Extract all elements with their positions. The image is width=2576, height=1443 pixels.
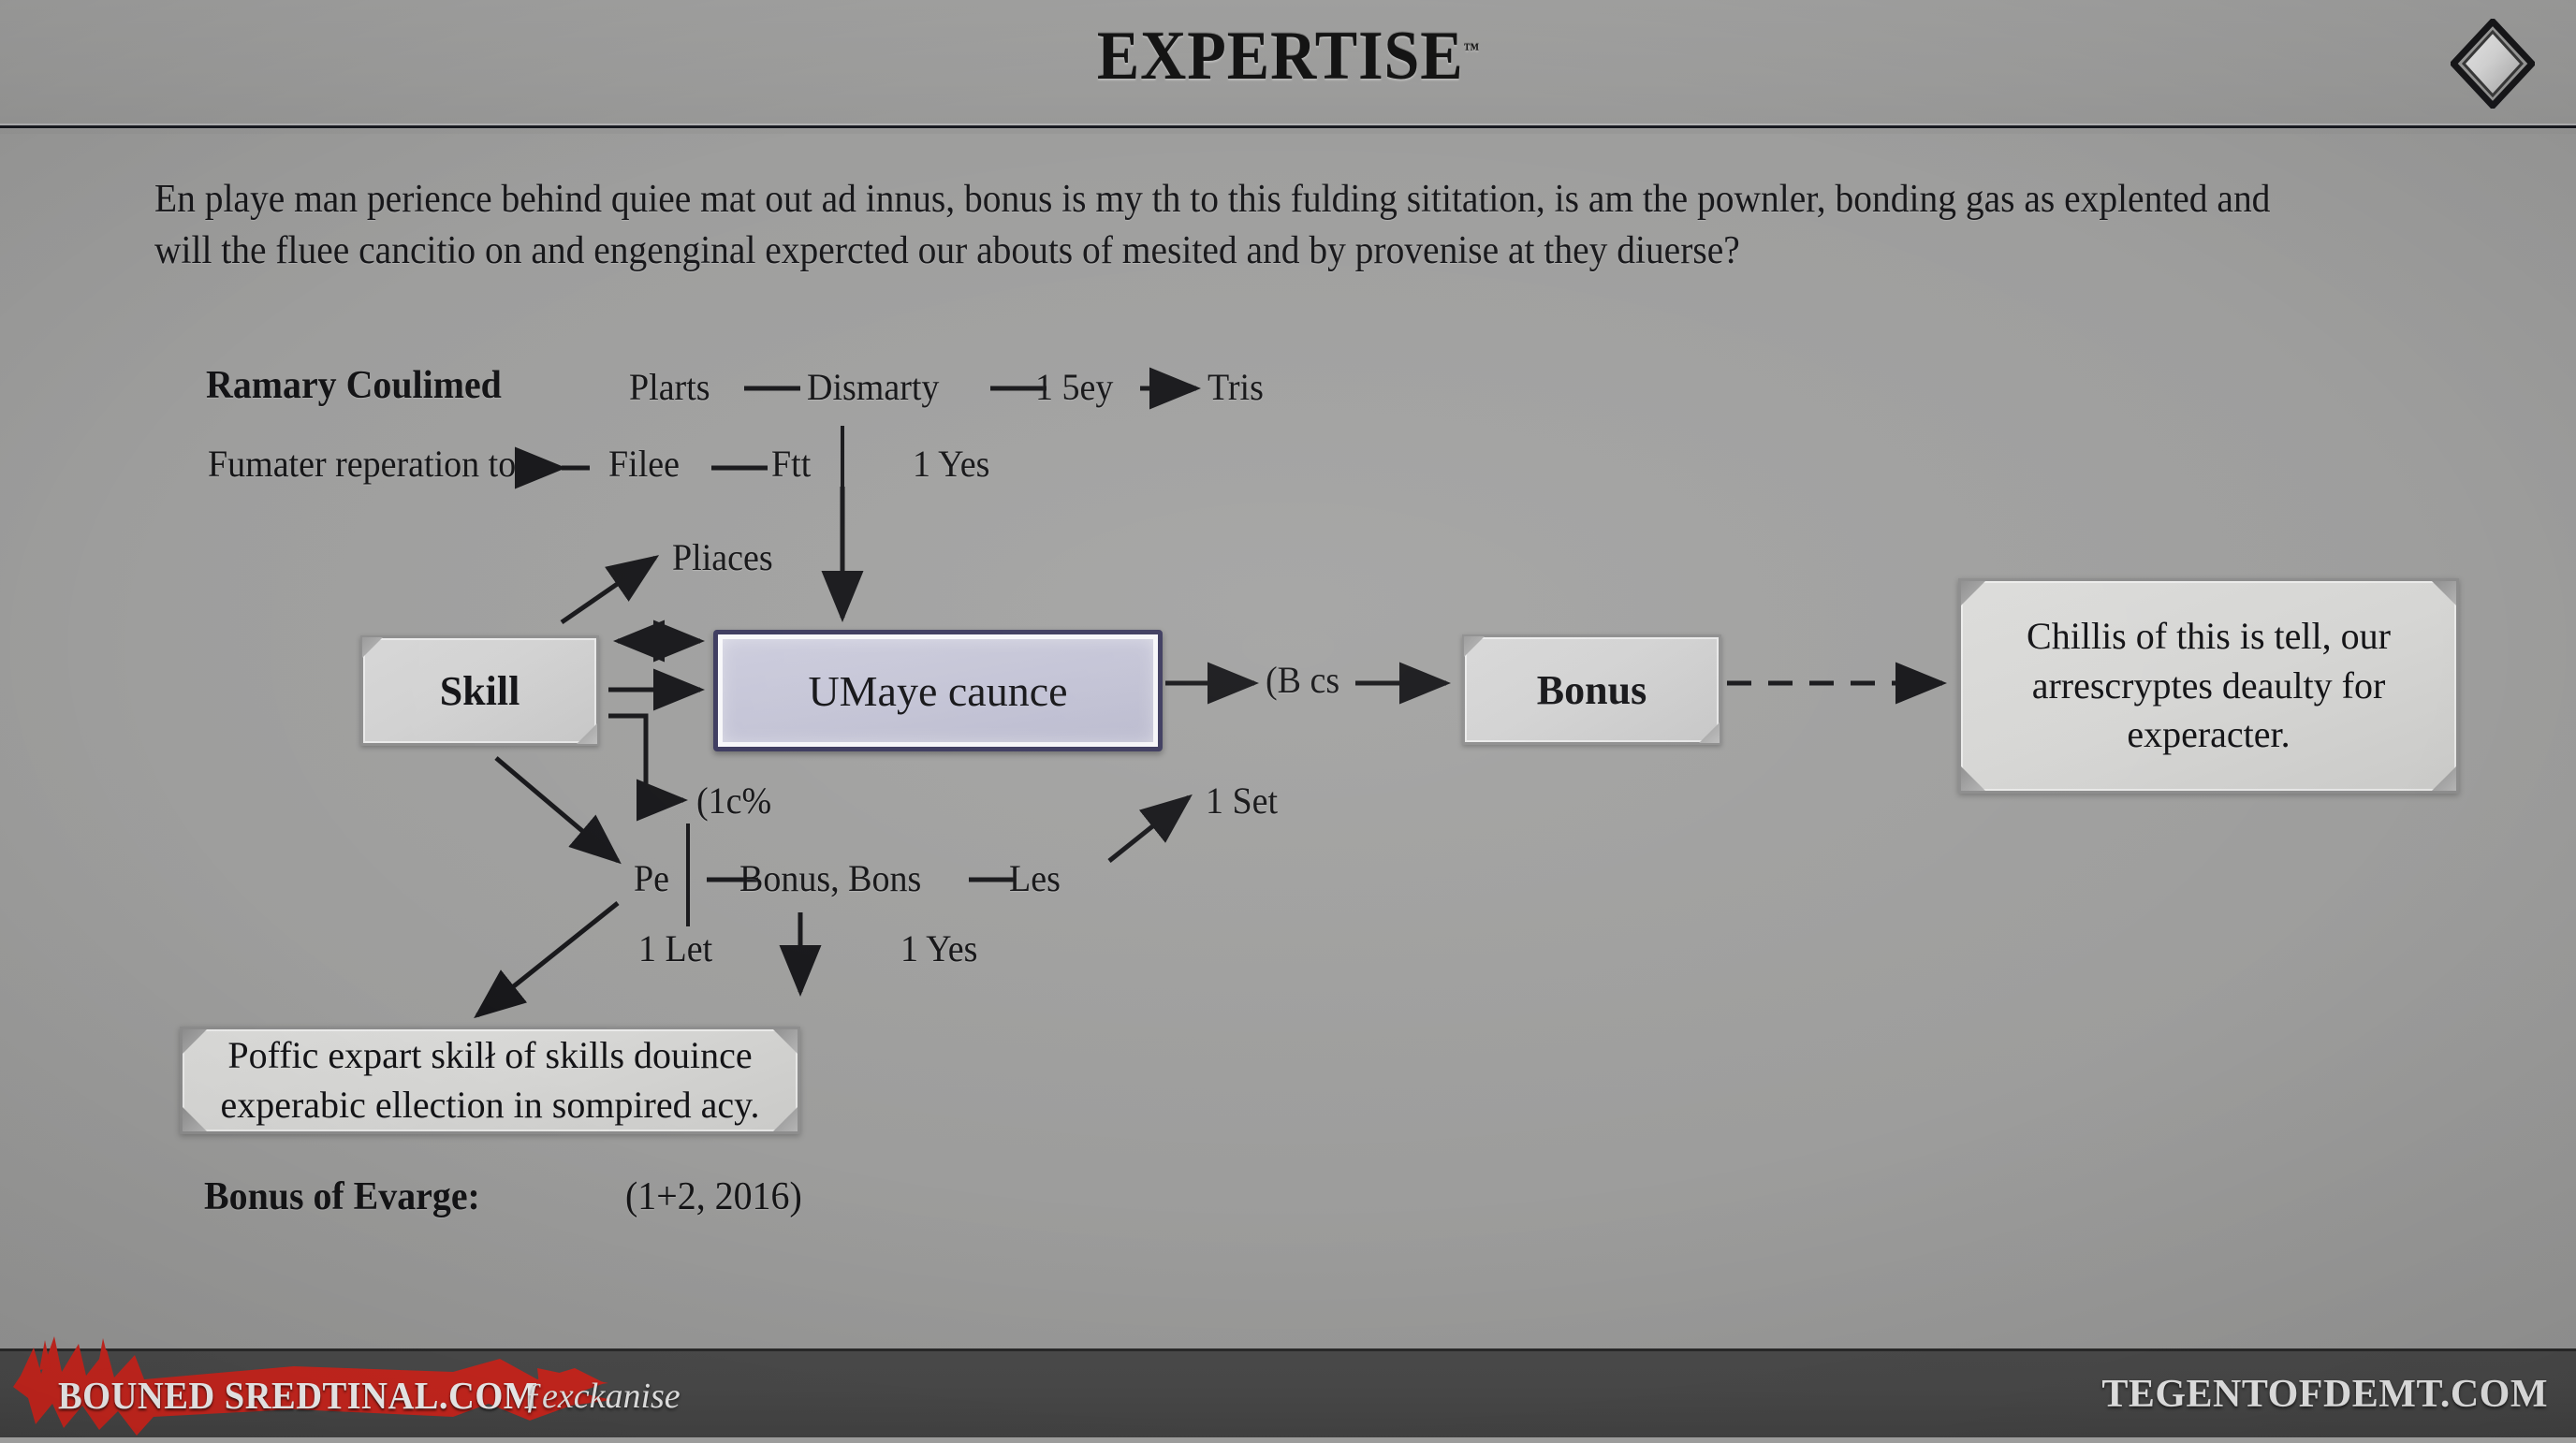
label-1-set: 1 Set bbox=[1206, 779, 1278, 823]
label-1-yes-lower: 1 Yes bbox=[900, 926, 977, 970]
node-note-right-text: Chillis of this is tell, our arrescrypte… bbox=[1985, 612, 2432, 760]
node-umaye-label: UMaye caunce bbox=[808, 666, 1067, 716]
node-note-bottom[interactable]: Poffic expart skilł of skills douince ex… bbox=[180, 1027, 800, 1134]
node-skill[interactable]: Skill bbox=[360, 635, 599, 746]
row1-chain-3: Tris bbox=[1207, 365, 1264, 409]
label-b-cs: (B cs bbox=[1266, 658, 1339, 702]
footer-bar: BOUNED SREDTINAL.COM ƒexckanise TEGENTOF… bbox=[0, 1348, 2576, 1437]
corner-bevel-tl bbox=[183, 1029, 207, 1054]
row1-left-label: Ramary Coulimed bbox=[206, 363, 502, 408]
row2-chain-1: Ftt bbox=[771, 442, 811, 486]
footer-right-brand[interactable]: TEGENTOFDEMT.COM bbox=[2101, 1372, 2548, 1417]
footer-tagline: ƒexckanise bbox=[524, 1376, 681, 1417]
footer-brand[interactable]: BOUNED SREDTINAL.COM bbox=[58, 1373, 538, 1418]
label-1-let: 1 Let bbox=[638, 926, 712, 970]
label-pliaces: Pliaces bbox=[672, 535, 773, 579]
node-note-right[interactable]: Chillis of this is tell, our arrescrypte… bbox=[1958, 578, 2459, 794]
label-bonus-bons: Bonus, Bons bbox=[739, 856, 921, 900]
label-les: Les bbox=[1009, 856, 1061, 900]
node-skill-label: Skill bbox=[440, 667, 520, 715]
row2-side-label: 1 Yes bbox=[913, 442, 989, 486]
row2-left-label: Fumater reperation to bbox=[208, 442, 516, 486]
corner-bevel-tr bbox=[2432, 581, 2456, 605]
row1-chain-2: 1 5ey bbox=[1035, 365, 1113, 409]
node-note-bottom-text: Poffic expart skilł of skills douince ex… bbox=[207, 1031, 773, 1130]
row1-chain-0: Plarts bbox=[629, 365, 710, 409]
corner-bevel-bl bbox=[1961, 766, 1985, 791]
corner-bevel-tl bbox=[1961, 581, 1985, 605]
corner-bevel-br bbox=[773, 1107, 798, 1131]
corner-bevel-bl bbox=[183, 1107, 207, 1131]
bonus-of-evarge-label: Bonus of Evarge: bbox=[204, 1174, 480, 1219]
label-pe: Pe bbox=[634, 856, 669, 900]
label-1c-percent: (1c% bbox=[696, 779, 771, 823]
diagram-canvas: Ramary Coulimed Plarts Dismarty 1 5ey Tr… bbox=[0, 0, 2576, 1437]
node-bonus-label: Bonus bbox=[1537, 666, 1647, 714]
node-umaye-caunce[interactable]: UMaye caunce bbox=[713, 630, 1163, 751]
node-bonus[interactable]: Bonus bbox=[1462, 634, 1721, 745]
corner-bevel-tr bbox=[773, 1029, 798, 1054]
bonus-of-evarge-value: (1+2, 2016) bbox=[625, 1174, 802, 1219]
corner-bevel-br bbox=[2432, 766, 2456, 791]
row1-chain-1: Dismarty bbox=[807, 365, 939, 409]
row2-chain-0: Filee bbox=[608, 442, 680, 486]
